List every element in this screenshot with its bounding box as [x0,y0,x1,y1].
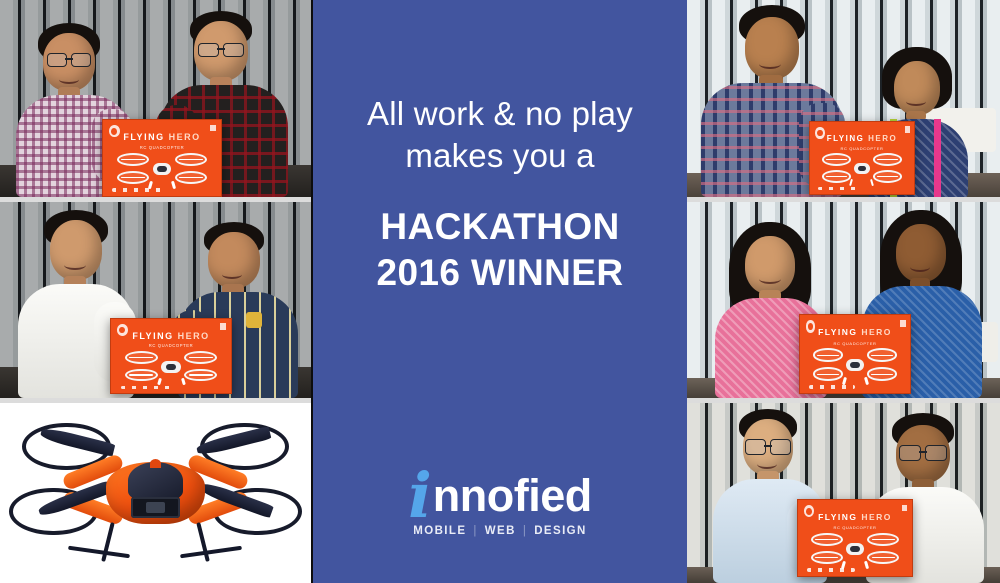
award-title: HACKATHON 2016 WINNER [376,204,623,294]
landing-skid [68,546,130,559]
photo-bottom-right: FLYING HERO RC QUADCOPTER [687,403,1000,583]
logo-initial-i: i [408,471,432,521]
photo-middle-right: FLYING HERO RC QUADCOPTER [687,202,1000,398]
smile [222,270,242,279]
smile [759,59,781,69]
glasses-icon [899,445,947,459]
headline: All work & no play makes you a [367,93,633,177]
face [50,220,102,280]
photo-top-left: FLYING HERO RC QUADCOPTER [0,0,311,197]
box-corner-tab [220,323,226,330]
smile [906,97,926,106]
box-subtitle: RC QUADCOPTER [810,146,914,151]
box-corner-tab [210,125,216,132]
drone-canopy [128,462,184,500]
box-corner-tab [900,320,906,327]
headline-line-1: All work & no play [367,95,633,132]
box-title: FLYING HERO [798,512,912,522]
photo-bottom-left [0,403,311,583]
award-title-line-2: 2016 WINNER [376,250,623,295]
box-subtitle: RC QUADCOPTER [800,341,910,346]
box-dot-strip [809,385,855,389]
face [896,224,946,282]
photo-top-right: FLYING HERO RC QUADCOPTER [687,0,1000,197]
box-drone-artwork [115,152,209,187]
glasses-icon [198,43,244,55]
smile [759,274,781,284]
box-subtitle: RC QUADCOPTER [103,145,221,150]
product-box: FLYING HERO RC QUADCOPTER [102,119,222,197]
smile [910,262,930,272]
box-corner-tab [902,505,908,512]
smile [59,75,79,84]
product-box: FLYING HERO RC QUADCOPTER [797,499,913,577]
glasses-icon [47,53,91,65]
award-title-line-1: HACKATHON [376,204,623,249]
logo-tagline: MOBILE|WEB|DESIGN [313,525,687,537]
face [894,61,940,115]
headline-line-2: makes you a [367,135,633,177]
tagline-web: WEB [485,525,516,537]
box-title: FLYING HERO [103,132,221,142]
box-subtitle: RC QUADCOPTER [798,525,912,530]
logo-wordmark-text: nnofied [433,476,592,517]
glasses-icon [745,439,791,453]
face [745,236,795,294]
box-drone-artwork [123,350,219,384]
drone-product-image [0,403,311,583]
landing-skid [180,546,242,559]
tagline-separator: | [523,525,527,537]
hackathon-winner-poster: FLYING HERO RC QUADCOPTER [0,0,1000,583]
shirt-crest [246,312,262,328]
tagline-design: DESIGN [534,525,587,537]
face [208,232,260,288]
face [745,17,799,79]
brand-logo: innofied MOBILE|WEB|DESIGN [313,465,687,538]
box-corner-tab [905,126,910,132]
logo-wordmark: innofied [408,465,592,517]
box-drone-artwork [820,152,903,185]
right-photo-column: FLYING HERO RC QUADCOPTER [687,0,1000,583]
box-drone-artwork [811,348,899,384]
center-text-panel: All work & no play makes you a HACKATHON… [313,0,687,583]
box-title: FLYING HERO [800,327,910,337]
product-box: FLYING HERO RC QUADCOPTER [799,314,911,394]
kurta-trim [934,119,941,197]
left-photo-column: FLYING HERO RC QUADCOPTER [0,0,311,583]
box-drone-artwork [809,532,900,567]
box-dot-strip [112,188,162,192]
box-subtitle: RC QUADCOPTER [111,343,231,348]
product-box: FLYING HERO RC QUADCOPTER [110,318,232,394]
smile [64,260,86,270]
product-box: FLYING HERO RC QUADCOPTER [809,121,915,195]
photo-middle-left: FLYING HERO RC QUADCOPTER [0,202,311,398]
box-dot-strip [818,187,862,191]
smile [757,459,777,469]
box-dot-strip [807,568,855,572]
box-dot-strip [121,386,171,390]
box-title: FLYING HERO [810,134,914,143]
tagline-separator: | [473,525,477,537]
box-title: FLYING HERO [111,331,231,341]
drone-camera [131,497,181,519]
